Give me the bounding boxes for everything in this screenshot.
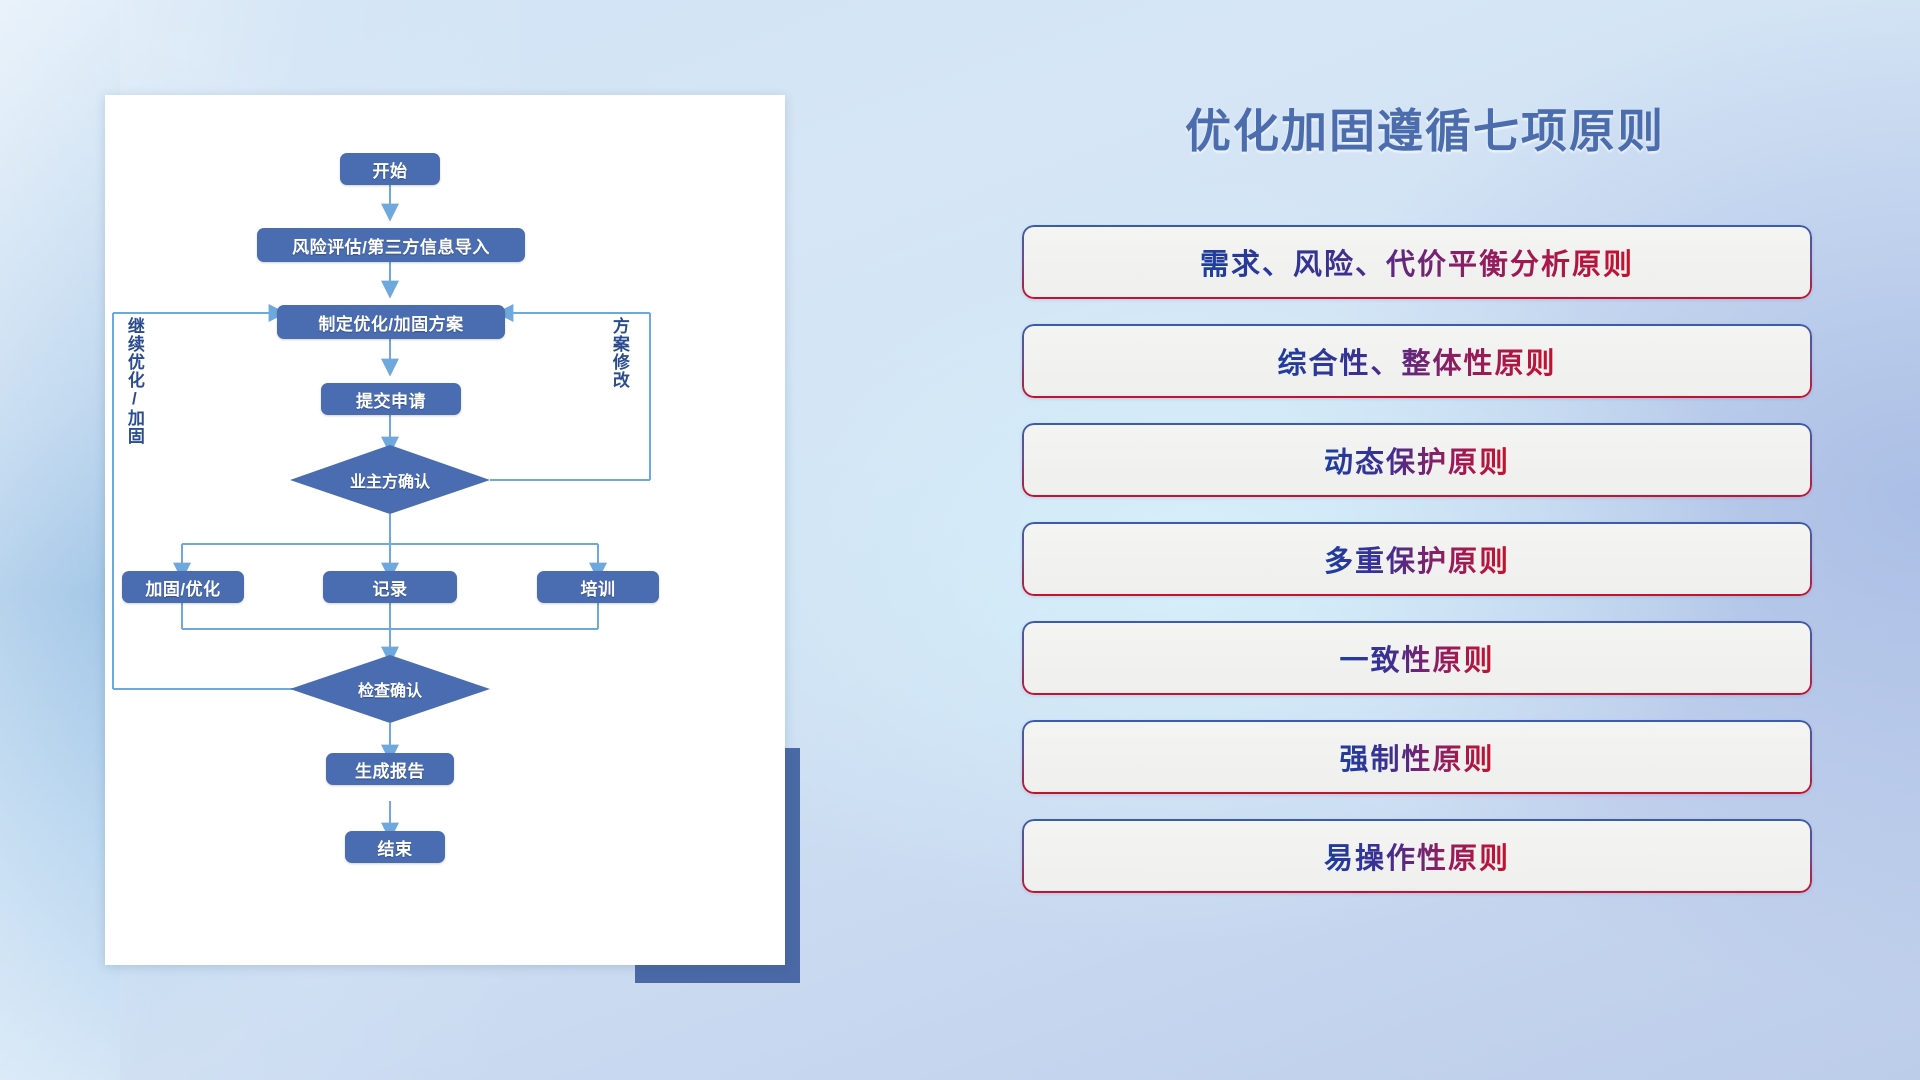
principle-item[interactable]: 强制性原则 bbox=[1022, 720, 1812, 794]
flow-node-risk-assessment[interactable]: 风险评估/第三方信息导入 bbox=[257, 228, 525, 262]
principle-item[interactable]: 动态保护原则 bbox=[1022, 423, 1812, 497]
principle-item[interactable]: 需求、风险、代价平衡分析原则 bbox=[1022, 225, 1812, 299]
flow-node-reinforce[interactable]: 加固/优化 bbox=[122, 571, 244, 603]
principle-label: 多重保护原则 bbox=[1324, 538, 1510, 580]
principle-item[interactable]: 易操作性原则 bbox=[1022, 819, 1812, 893]
principle-label: 需求、风险、代价平衡分析原则 bbox=[1200, 241, 1634, 283]
flow-node-start[interactable]: 开始 bbox=[340, 153, 440, 185]
principle-label: 一致性原则 bbox=[1339, 637, 1494, 679]
flow-node-owner-confirm-label: 业主方确认 bbox=[290, 467, 490, 493]
flow-node-report[interactable]: 生成报告 bbox=[326, 753, 454, 785]
principle-label: 综合性、整体性原则 bbox=[1277, 340, 1556, 382]
flow-node-plan[interactable]: 制定优化/加固方案 bbox=[277, 305, 505, 339]
principle-label: 易操作性原则 bbox=[1324, 835, 1510, 877]
principle-item[interactable]: 一致性原则 bbox=[1022, 621, 1812, 695]
principle-label: 强制性原则 bbox=[1339, 736, 1494, 778]
edge-label-plan-revision: 方案修改 bbox=[610, 317, 628, 437]
flowchart-connectors bbox=[105, 95, 785, 965]
panel-title: 优化加固遵循七项原则 bbox=[1010, 95, 1840, 161]
principle-label: 动态保护原则 bbox=[1324, 439, 1510, 481]
principles-list: 需求、风险、代价平衡分析原则 综合性、整体性原则 动态保护原则 多重保护原则 一… bbox=[1022, 225, 1812, 918]
flow-node-record[interactable]: 记录 bbox=[323, 571, 457, 603]
flow-node-check-confirm-label: 检查确认 bbox=[290, 676, 490, 702]
background-left-band bbox=[0, 0, 120, 1080]
edge-label-continue-optimize: 继续优化/加固 bbox=[125, 317, 143, 477]
principle-item[interactable]: 综合性、整体性原则 bbox=[1022, 324, 1812, 398]
principle-item[interactable]: 多重保护原则 bbox=[1022, 522, 1812, 596]
flow-node-submit[interactable]: 提交申请 bbox=[321, 383, 461, 415]
flow-node-end[interactable]: 结束 bbox=[345, 831, 445, 863]
flowchart-card: 开始 风险评估/第三方信息导入 制定优化/加固方案 提交申请 业主方确认 加固/… bbox=[105, 95, 785, 965]
principles-panel: 优化加固遵循七项原则 需求、风险、代价平衡分析原则 综合性、整体性原则 动态保护… bbox=[1010, 95, 1840, 1005]
flow-node-training[interactable]: 培训 bbox=[537, 571, 659, 603]
